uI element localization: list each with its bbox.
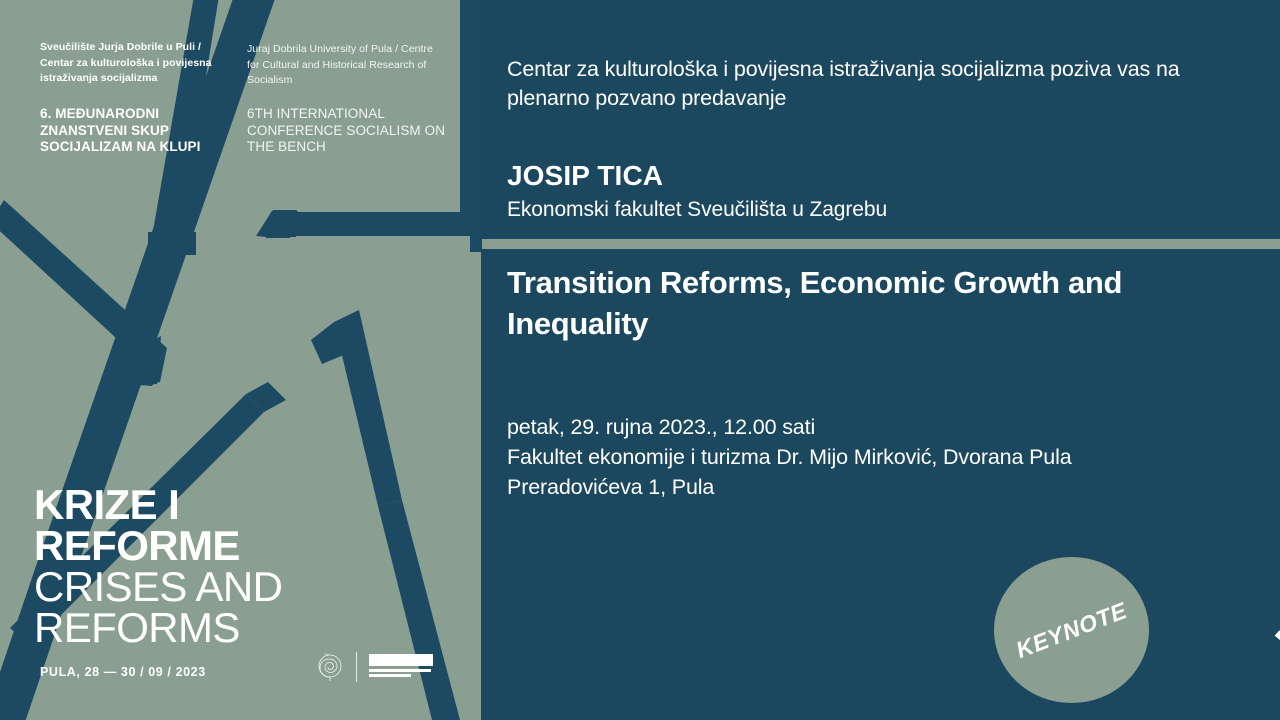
event-poster: Sveučilište Jurja Dobrile u Puli / Centa…	[0, 0, 1280, 720]
rls-logo-text-line-2	[369, 674, 411, 677]
theme-hr-line-2: REFORME	[34, 525, 454, 566]
partner-logos-row: UNIV	[314, 650, 446, 684]
event-address: Preradovićeva 1, Pula	[507, 472, 1267, 502]
speaker-name: JOSIP TICA	[507, 160, 663, 192]
theme-hr-line-1: KRIZE I	[34, 484, 454, 525]
event-venue: Fakultet ekonomije i turizma Dr. Mijo Mi…	[507, 442, 1267, 472]
event-details: petak, 29. rujna 2023., 12.00 sati Fakul…	[507, 412, 1267, 502]
left-panel: Sveučilište Jurja Dobrile u Puli / Centa…	[0, 0, 481, 720]
right-panel: Centar za kulturološka i povijesna istra…	[481, 0, 1280, 720]
svg-text:UNIV: UNIV	[324, 654, 329, 656]
rls-logo-text-line-1	[369, 669, 431, 672]
conference-title-en: 6TH INTERNATIONAL CONFERENCE SOCIALISM O…	[247, 106, 447, 156]
organizer-name-hr: Sveučilište Jurja Dobrile u Puli / Centa…	[40, 40, 225, 87]
speaker-affiliation: Ekonomski fakultet Sveučilišta u Zagrebu	[507, 198, 887, 222]
organizer-name-en: Juraj Dobrila University of Pula / Centr…	[247, 42, 437, 89]
conference-date-place: PULA, 28 — 30 / 09 / 2023	[40, 665, 206, 679]
event-datetime: petak, 29. rujna 2023., 12.00 sati	[507, 412, 1267, 442]
rls-logo-bar	[369, 654, 433, 666]
conference-title-hr: 6. MEĐUNARODNI ZNANSTVENI SKUP SOCIJALIZ…	[40, 106, 235, 156]
theme-en-line-1: CRISES AND	[34, 566, 454, 607]
logo-divider	[356, 652, 357, 682]
theme-en-line-2: REFORMS	[34, 607, 454, 648]
conference-theme: KRIZE I REFORME CRISES AND REFORMS	[34, 484, 454, 648]
rosa-luxemburg-stiftung-logo	[369, 654, 433, 680]
invitation-text: Centar za kulturološka i povijesna istra…	[507, 55, 1247, 113]
keynote-badge-label: KEYNOTE	[973, 534, 1170, 720]
deconstructed-star-chevron-mark	[1267, 553, 1280, 713]
section-separator-bar	[482, 239, 1280, 249]
juraj-dobrila-university-spiral-logo: UNIV	[314, 651, 346, 683]
keynote-badge: KEYNOTE	[994, 557, 1149, 703]
lecture-title: Transition Reforms, Economic Growth and …	[507, 262, 1227, 344]
